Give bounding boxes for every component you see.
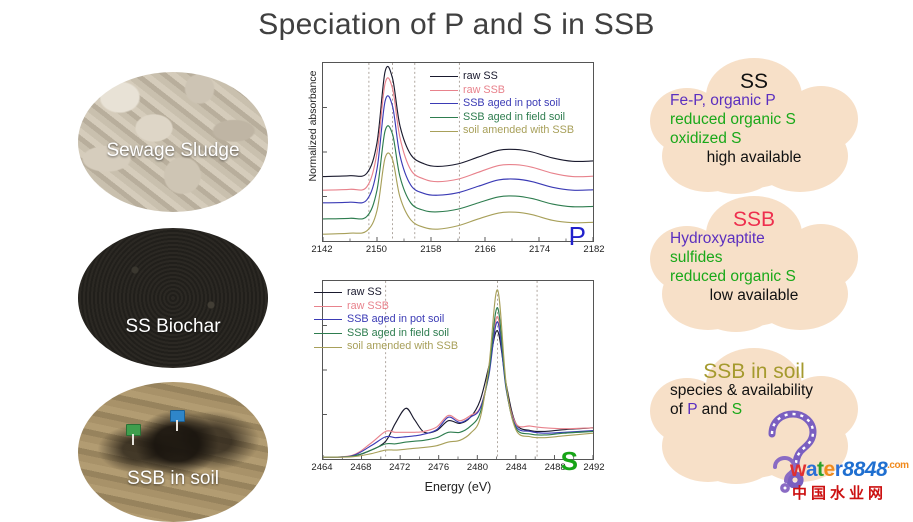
watermark-wordmark: water8848.com (790, 458, 908, 482)
cloud-ssbsoil-heading: SSB in soil (660, 362, 848, 381)
legend-label: SSB aged in pot soil (463, 97, 560, 111)
watermark-tld: .com (887, 460, 908, 471)
photo-ss-biochar: SS Biochar (78, 228, 268, 368)
legend-swatch (314, 319, 342, 320)
cloud-ss-heading: SS (660, 72, 848, 91)
field-marker-sign-right (170, 410, 185, 422)
legend-label: raw SSB (463, 84, 505, 98)
legend-item: soil amended with SSB (314, 340, 458, 354)
legend-swatch (430, 103, 458, 104)
legend-label: SSB aged in field soil (463, 111, 565, 125)
callout-cloud-ssb: SSB Hydroxyaptite sulfides reduced organ… (648, 200, 860, 332)
watermark-chinese-text: 中国水业网 (792, 482, 887, 503)
cloud-ss-line-4: high available (660, 148, 848, 167)
watermark-letter: a (806, 458, 817, 481)
cloud-ss-line-3: oxidized S (660, 129, 848, 148)
chart-s-xlabel: Energy (eV) (322, 480, 594, 494)
cloud-ssb-line-4: low available (660, 286, 848, 305)
cloud-ss-line-1: Fe-P, organic P (660, 91, 848, 110)
chart-s-element-label: S (561, 446, 578, 477)
page-title: Speciation of P and S in SSB (0, 8, 913, 42)
chart-s-xaxis: 24642468247224762480248424882492 (322, 462, 594, 478)
legend-swatch (314, 333, 342, 334)
legend-label: soil amended with SSB (347, 340, 458, 354)
legend-label: raw SSB (347, 300, 389, 314)
axis-tick-label: 2158 (420, 244, 441, 255)
axis-tick-label: 2484 (506, 462, 527, 473)
chart-p-legend: raw SSraw SSBSSB aged in pot soilSSB age… (430, 70, 574, 138)
legend-swatch (314, 306, 342, 307)
data-series-line (323, 126, 593, 219)
axis-tick-label: 2464 (311, 462, 332, 473)
legend-swatch (314, 292, 342, 293)
legend-label: SSB aged in pot soil (347, 313, 444, 327)
legend-swatch (430, 131, 458, 132)
watermark-letter: w (790, 458, 806, 481)
legend-swatch (430, 90, 458, 91)
cloud-ssbsoil-line-1: species & availability (660, 381, 848, 400)
legend-item: SSB aged in field soil (430, 111, 574, 125)
legend-item: SSB aged in pot soil (430, 97, 574, 111)
axis-tick-label: 2468 (350, 462, 371, 473)
axis-tick-label: 2174 (529, 244, 550, 255)
watermark-letter: e (824, 458, 835, 481)
cloud-ssb-line-2: sulfides (660, 248, 848, 267)
axis-tick-label: 2150 (366, 244, 387, 255)
legend-item: SSB aged in field soil (314, 327, 458, 341)
photo-caption-ss-biochar: SS Biochar (78, 316, 268, 338)
legend-item: raw SSB (314, 300, 458, 314)
cloud-ssb-line-3: reduced organic S (660, 267, 848, 286)
legend-label: raw SS (463, 70, 498, 84)
cloud-ssb-line-1: Hydroxyaptite (660, 229, 848, 248)
photo-caption-ssb-in-soil: SSB in soil (78, 468, 268, 490)
axis-tick-label: 2182 (583, 244, 604, 255)
chart-s-legend: raw SSraw SSBSSB aged in pot soilSSB age… (314, 286, 458, 354)
axis-tick-label: 2476 (428, 462, 449, 473)
legend-item: raw SSB (430, 84, 574, 98)
chart-s-xanes: 24642468247224762480248424882492 Energy … (300, 278, 600, 503)
axis-tick-label: 2166 (475, 244, 496, 255)
legend-label: raw SS (347, 286, 382, 300)
chart-p-ylabel: Normalized absorbance (307, 66, 319, 186)
field-marker-sign-left (126, 424, 141, 436)
legend-item: raw SS (430, 70, 574, 84)
axis-tick-label: 2480 (467, 462, 488, 473)
legend-swatch (430, 76, 458, 77)
legend-label: SSB aged in field soil (347, 327, 449, 341)
axis-tick-label: 2472 (389, 462, 410, 473)
legend-label: soil amended with SSB (463, 124, 574, 138)
legend-item: raw SS (314, 286, 458, 300)
photo-sewage-sludge: Sewage Sludge (78, 72, 268, 212)
watermark: water8848.com 中国水业网 (768, 456, 908, 508)
data-series-line (323, 153, 593, 234)
legend-swatch (314, 347, 342, 348)
chart-p-element-label: P (569, 221, 586, 252)
cloud-ssb-heading: SSB (660, 210, 848, 229)
watermark-number: 8848 (842, 458, 887, 481)
legend-item: SSB aged in pot soil (314, 313, 458, 327)
cloud-ss-line-2: reduced organic S (660, 110, 848, 129)
axis-tick-label: 2492 (583, 462, 604, 473)
axis-tick-label: 2142 (311, 244, 332, 255)
photo-ssb-in-soil: SSB in soil (78, 382, 268, 522)
legend-swatch (430, 117, 458, 118)
legend-item: soil amended with SSB (430, 124, 574, 138)
chart-p-xaxis: 214221502158216621742182 (322, 244, 594, 260)
chart-p-xanes: Normalized absorbance 214221502158216621… (300, 60, 600, 272)
callout-cloud-ss: SS Fe-P, organic P reduced organic S oxi… (648, 62, 860, 194)
photo-caption-sewage-sludge: Sewage Sludge (78, 140, 268, 162)
